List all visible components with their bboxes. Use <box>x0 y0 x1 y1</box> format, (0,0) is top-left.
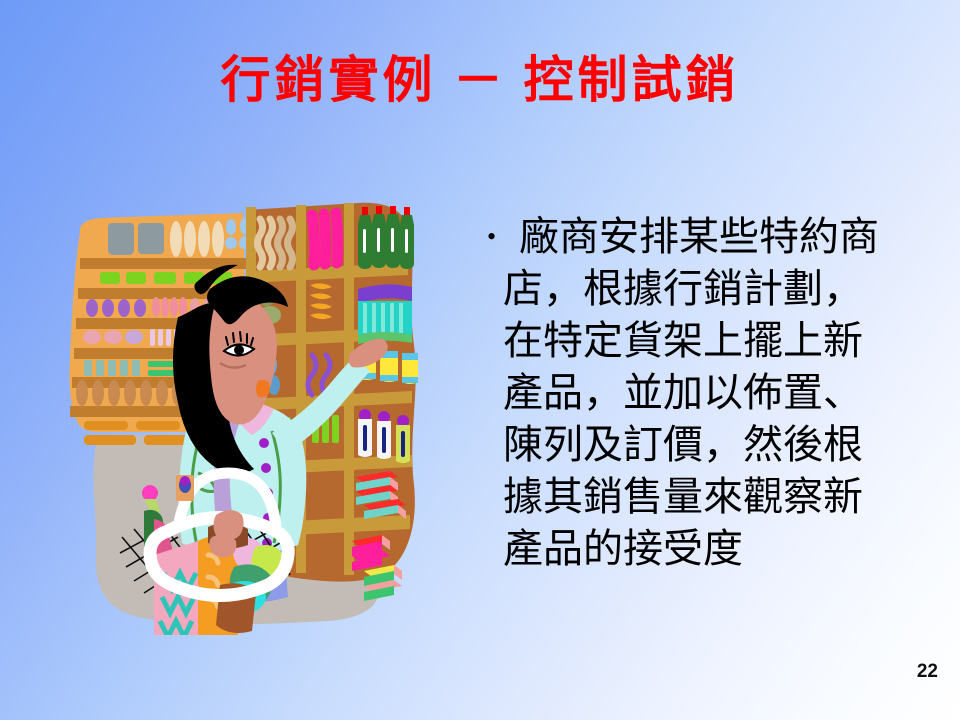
basket-side-item <box>176 475 194 501</box>
paragraph-text: 廠商安排某些特約商店，根據行銷計劃，在特定貨架上擺上新產品，並加以佈置、陳列及訂… <box>487 211 887 575</box>
bullet-paragraph: 廠商安排某些特約商店，根據行銷計劃，在特定貨架上擺上新產品，並加以佈置、陳列及訂… <box>487 206 887 575</box>
right-shelf-magenta-items <box>312 213 338 265</box>
page-number: 22 <box>917 661 938 683</box>
right-shelf-tall-bottles <box>358 409 410 463</box>
right-shelf-turquoise-boxes <box>358 284 412 344</box>
page-title: 行銷實例 － 控制試銷 <box>0 50 960 110</box>
bullet-marker <box>487 206 503 263</box>
store-shopping-illustration <box>58 185 458 635</box>
slide-canvas: 行銷實例 － 控制試銷 <box>0 0 960 720</box>
body-text-block: 廠商安排某些特約商店，根據行銷計劃，在特定貨架上擺上新產品，並加以佈置、陳列及訂… <box>487 206 887 575</box>
